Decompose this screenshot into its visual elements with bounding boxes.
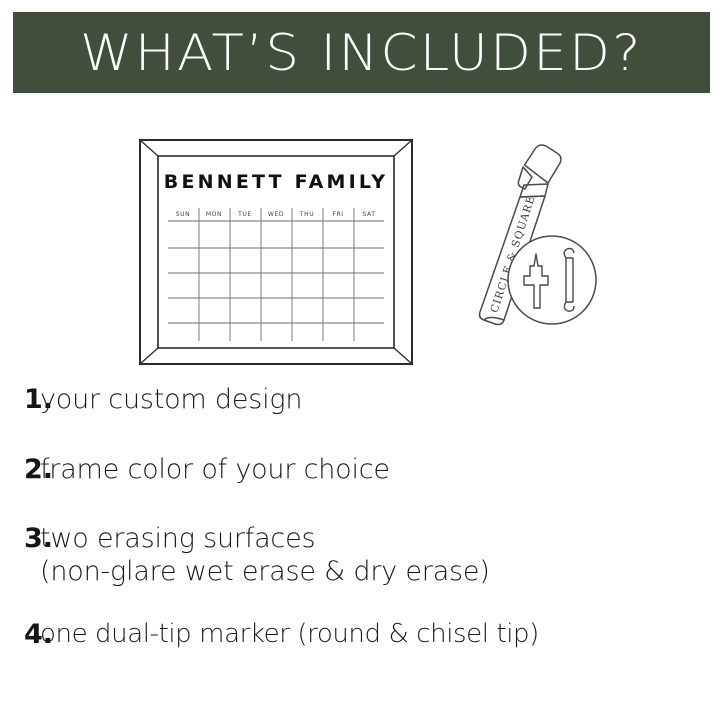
marker-band — [520, 184, 548, 197]
included-items-list: 1. your custom design 2. frame color of … — [0, 384, 720, 652]
list-item-text: one dual-tip marker (round & chisel tip) — [40, 619, 720, 651]
whiteboard-calendar-illustration: BENNETT FAMILY SUN MON TUE WED THU FRI S… — [138, 138, 414, 366]
dual-tip-marker-illustration: CIRCLE & SQUARE — [462, 140, 597, 345]
list-item-text-line2: (non-glare wet erase & dry erase) — [40, 556, 720, 589]
list-item: 1. your custom design — [0, 384, 720, 417]
calendar-board-title: BENNETT FAMILY — [164, 171, 388, 193]
calendar-day-label-mon: MON — [206, 211, 222, 218]
illustration-area: BENNETT FAMILY SUN MON TUE WED THU FRI S… — [0, 110, 720, 375]
list-item-number: 4. — [0, 619, 40, 652]
marker-svg: CIRCLE & SQUARE — [462, 140, 597, 345]
list-item-text: frame color of your choice — [40, 454, 720, 487]
list-item: 3. two erasing surfaces (non-glare wet e… — [0, 523, 720, 589]
list-item-number: 3. — [0, 523, 40, 556]
list-item: 4. one dual-tip marker (round & chisel t… — [0, 619, 720, 652]
calendar-day-label-sun: SUN — [176, 211, 191, 218]
calendar-day-label-thu: THU — [299, 211, 314, 218]
calendar-day-label-fri: FRI — [332, 211, 343, 218]
marker-barrel-end — [484, 318, 504, 321]
list-item-text-block: two erasing surfaces (non-glare wet eras… — [40, 523, 720, 589]
marker-cap — [525, 145, 562, 183]
calendar-day-label-tue: TUE — [237, 211, 252, 218]
list-item: 2. frame color of your choice — [0, 454, 720, 487]
list-item-number: 2. — [0, 454, 40, 487]
list-item-number: 1. — [0, 384, 40, 417]
page-title: WHAT’S INCLUDED? — [80, 28, 643, 78]
whiteboard-svg: BENNETT FAMILY SUN MON TUE WED THU FRI S… — [138, 138, 414, 366]
calendar-day-label-sat: SAT — [362, 211, 375, 218]
list-item-text: your custom design — [40, 384, 720, 417]
calendar-day-label-wed: WED — [268, 211, 284, 218]
header-banner: WHAT’S INCLUDED? — [13, 12, 710, 93]
list-item-text: two erasing surfaces — [40, 523, 315, 554]
marker-tip-detail-circle — [508, 236, 596, 324]
